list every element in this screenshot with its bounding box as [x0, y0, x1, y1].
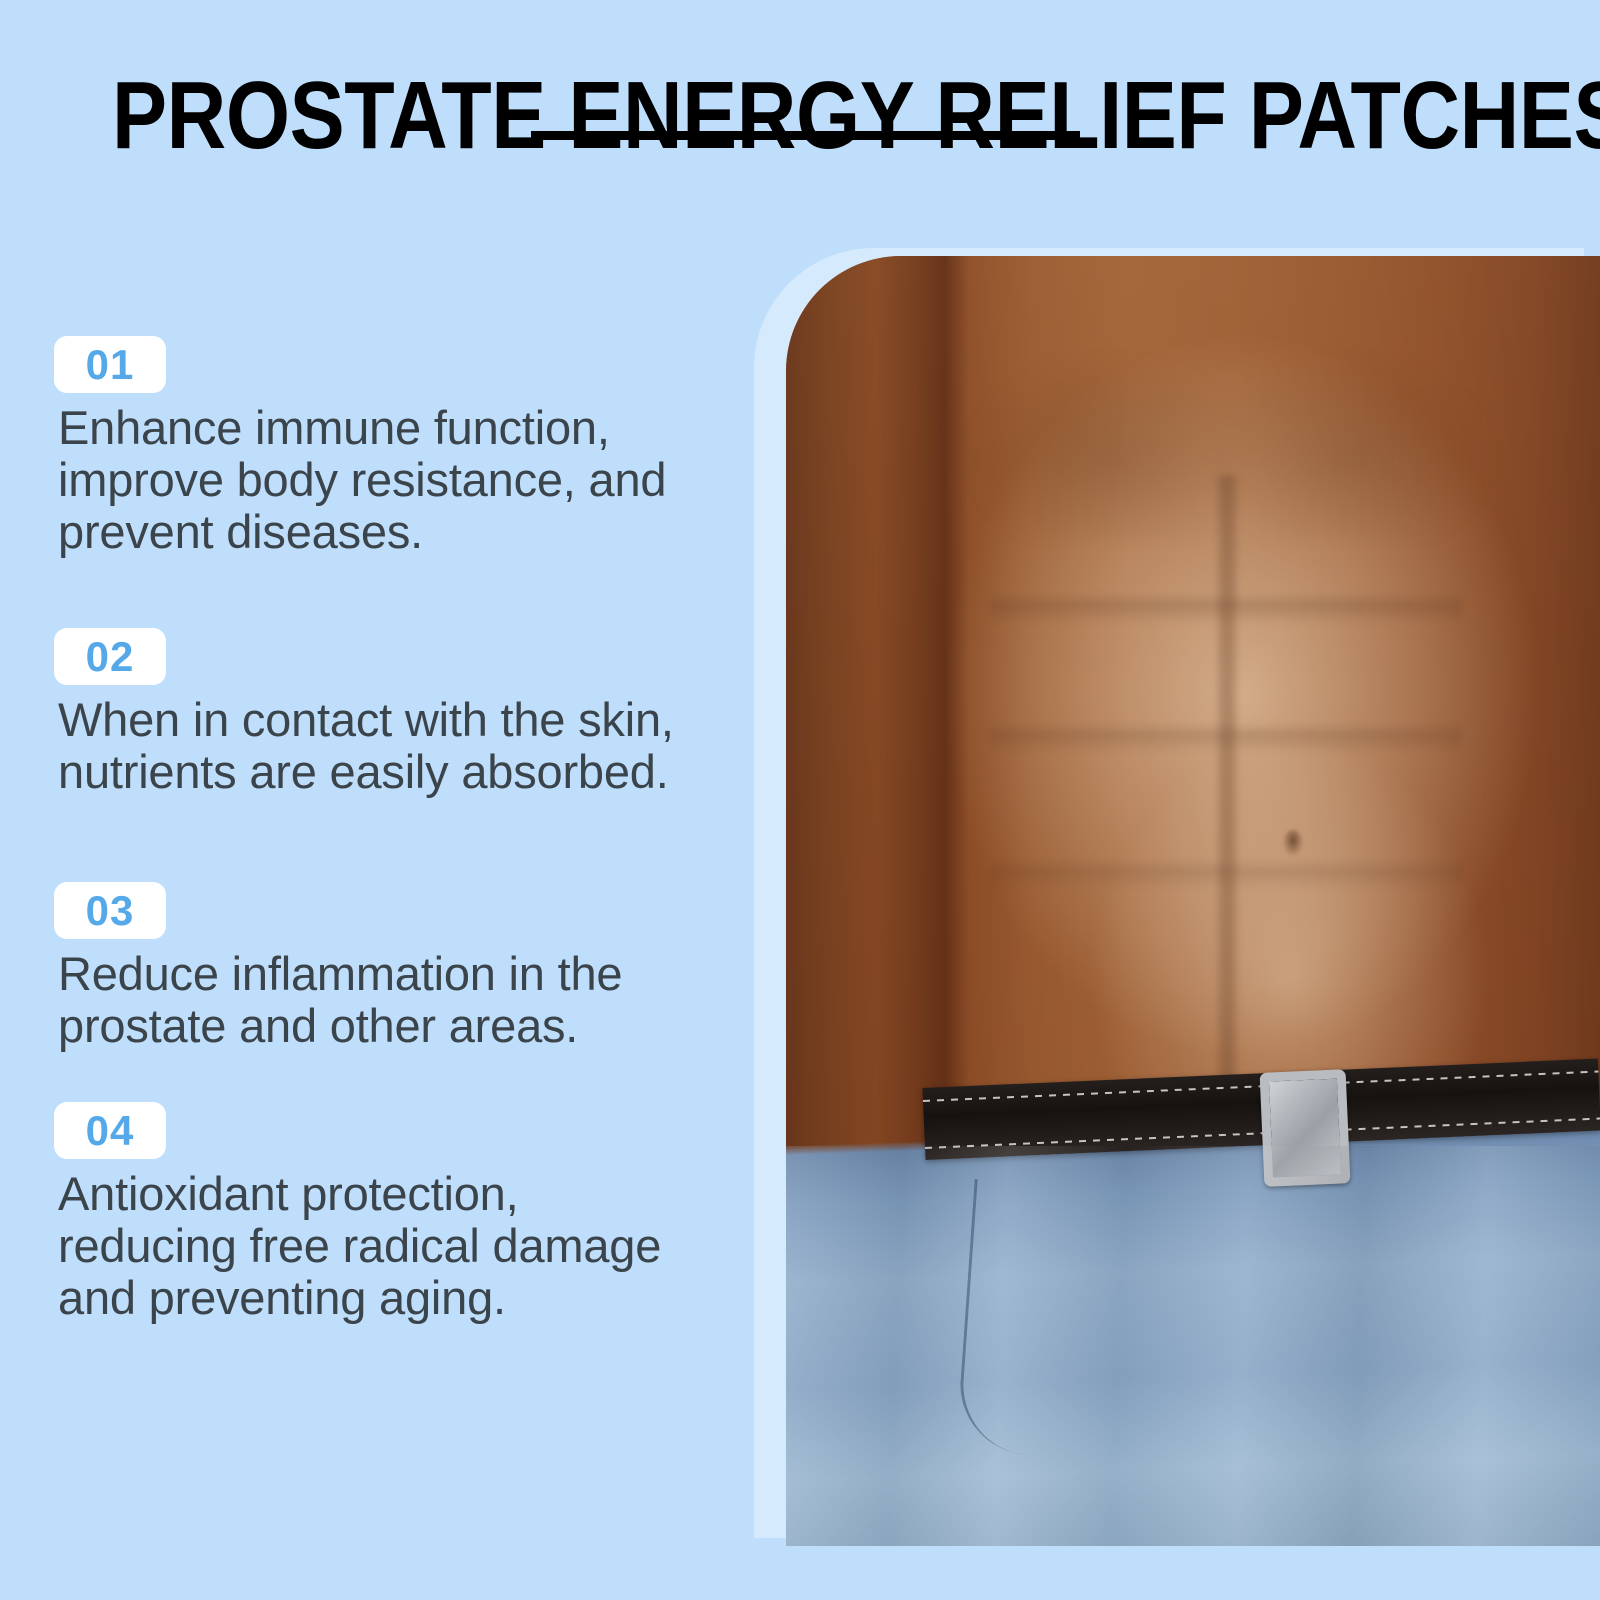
feature-number-02: 02	[86, 636, 135, 678]
page-title: PROSTATE ENERGY RELIEF PATCHES	[112, 68, 1488, 164]
photo-frame	[786, 256, 1600, 1546]
feature-number-03: 03	[86, 890, 135, 932]
feature-item-01: 01 Enhance immune function, improve body…	[54, 336, 714, 558]
abdominal-shading	[990, 475, 1462, 1094]
feature-text-04: Antioxidant protection, reducing free ra…	[58, 1168, 683, 1324]
denim-texture	[786, 1146, 1600, 1546]
feature-number-01: 01	[86, 344, 135, 386]
feature-text-02: When in contact with the skin, nutrients…	[58, 694, 683, 798]
feature-item-02: 02 When in contact with the skin, nutrie…	[54, 628, 714, 798]
jeans-pocket-seam	[956, 1179, 1157, 1462]
title-block: PROSTATE ENERGY RELIEF PATCHES	[0, 68, 1600, 164]
title-underline-rule	[531, 131, 1080, 140]
feature-item-04: 04 Antioxidant protection, reducing free…	[54, 1102, 714, 1324]
feature-text-01: Enhance immune function, improve body re…	[58, 402, 683, 558]
product-photo-panel	[736, 248, 1600, 1546]
feature-badge-01: 01	[54, 336, 166, 393]
feature-text-03: Reduce inflammation in the prostate and …	[58, 948, 683, 1052]
feature-item-03: 03 Reduce inflammation in the prostate a…	[54, 882, 714, 1052]
feature-badge-04: 04	[54, 1102, 166, 1159]
navel-detail	[1283, 830, 1303, 856]
feature-badge-03: 03	[54, 882, 166, 939]
feature-badge-02: 02	[54, 628, 166, 685]
feature-number-04: 04	[86, 1110, 135, 1152]
infographic-page: PROSTATE ENERGY RELIEF PATCHES 01 Enhanc…	[0, 0, 1600, 1600]
